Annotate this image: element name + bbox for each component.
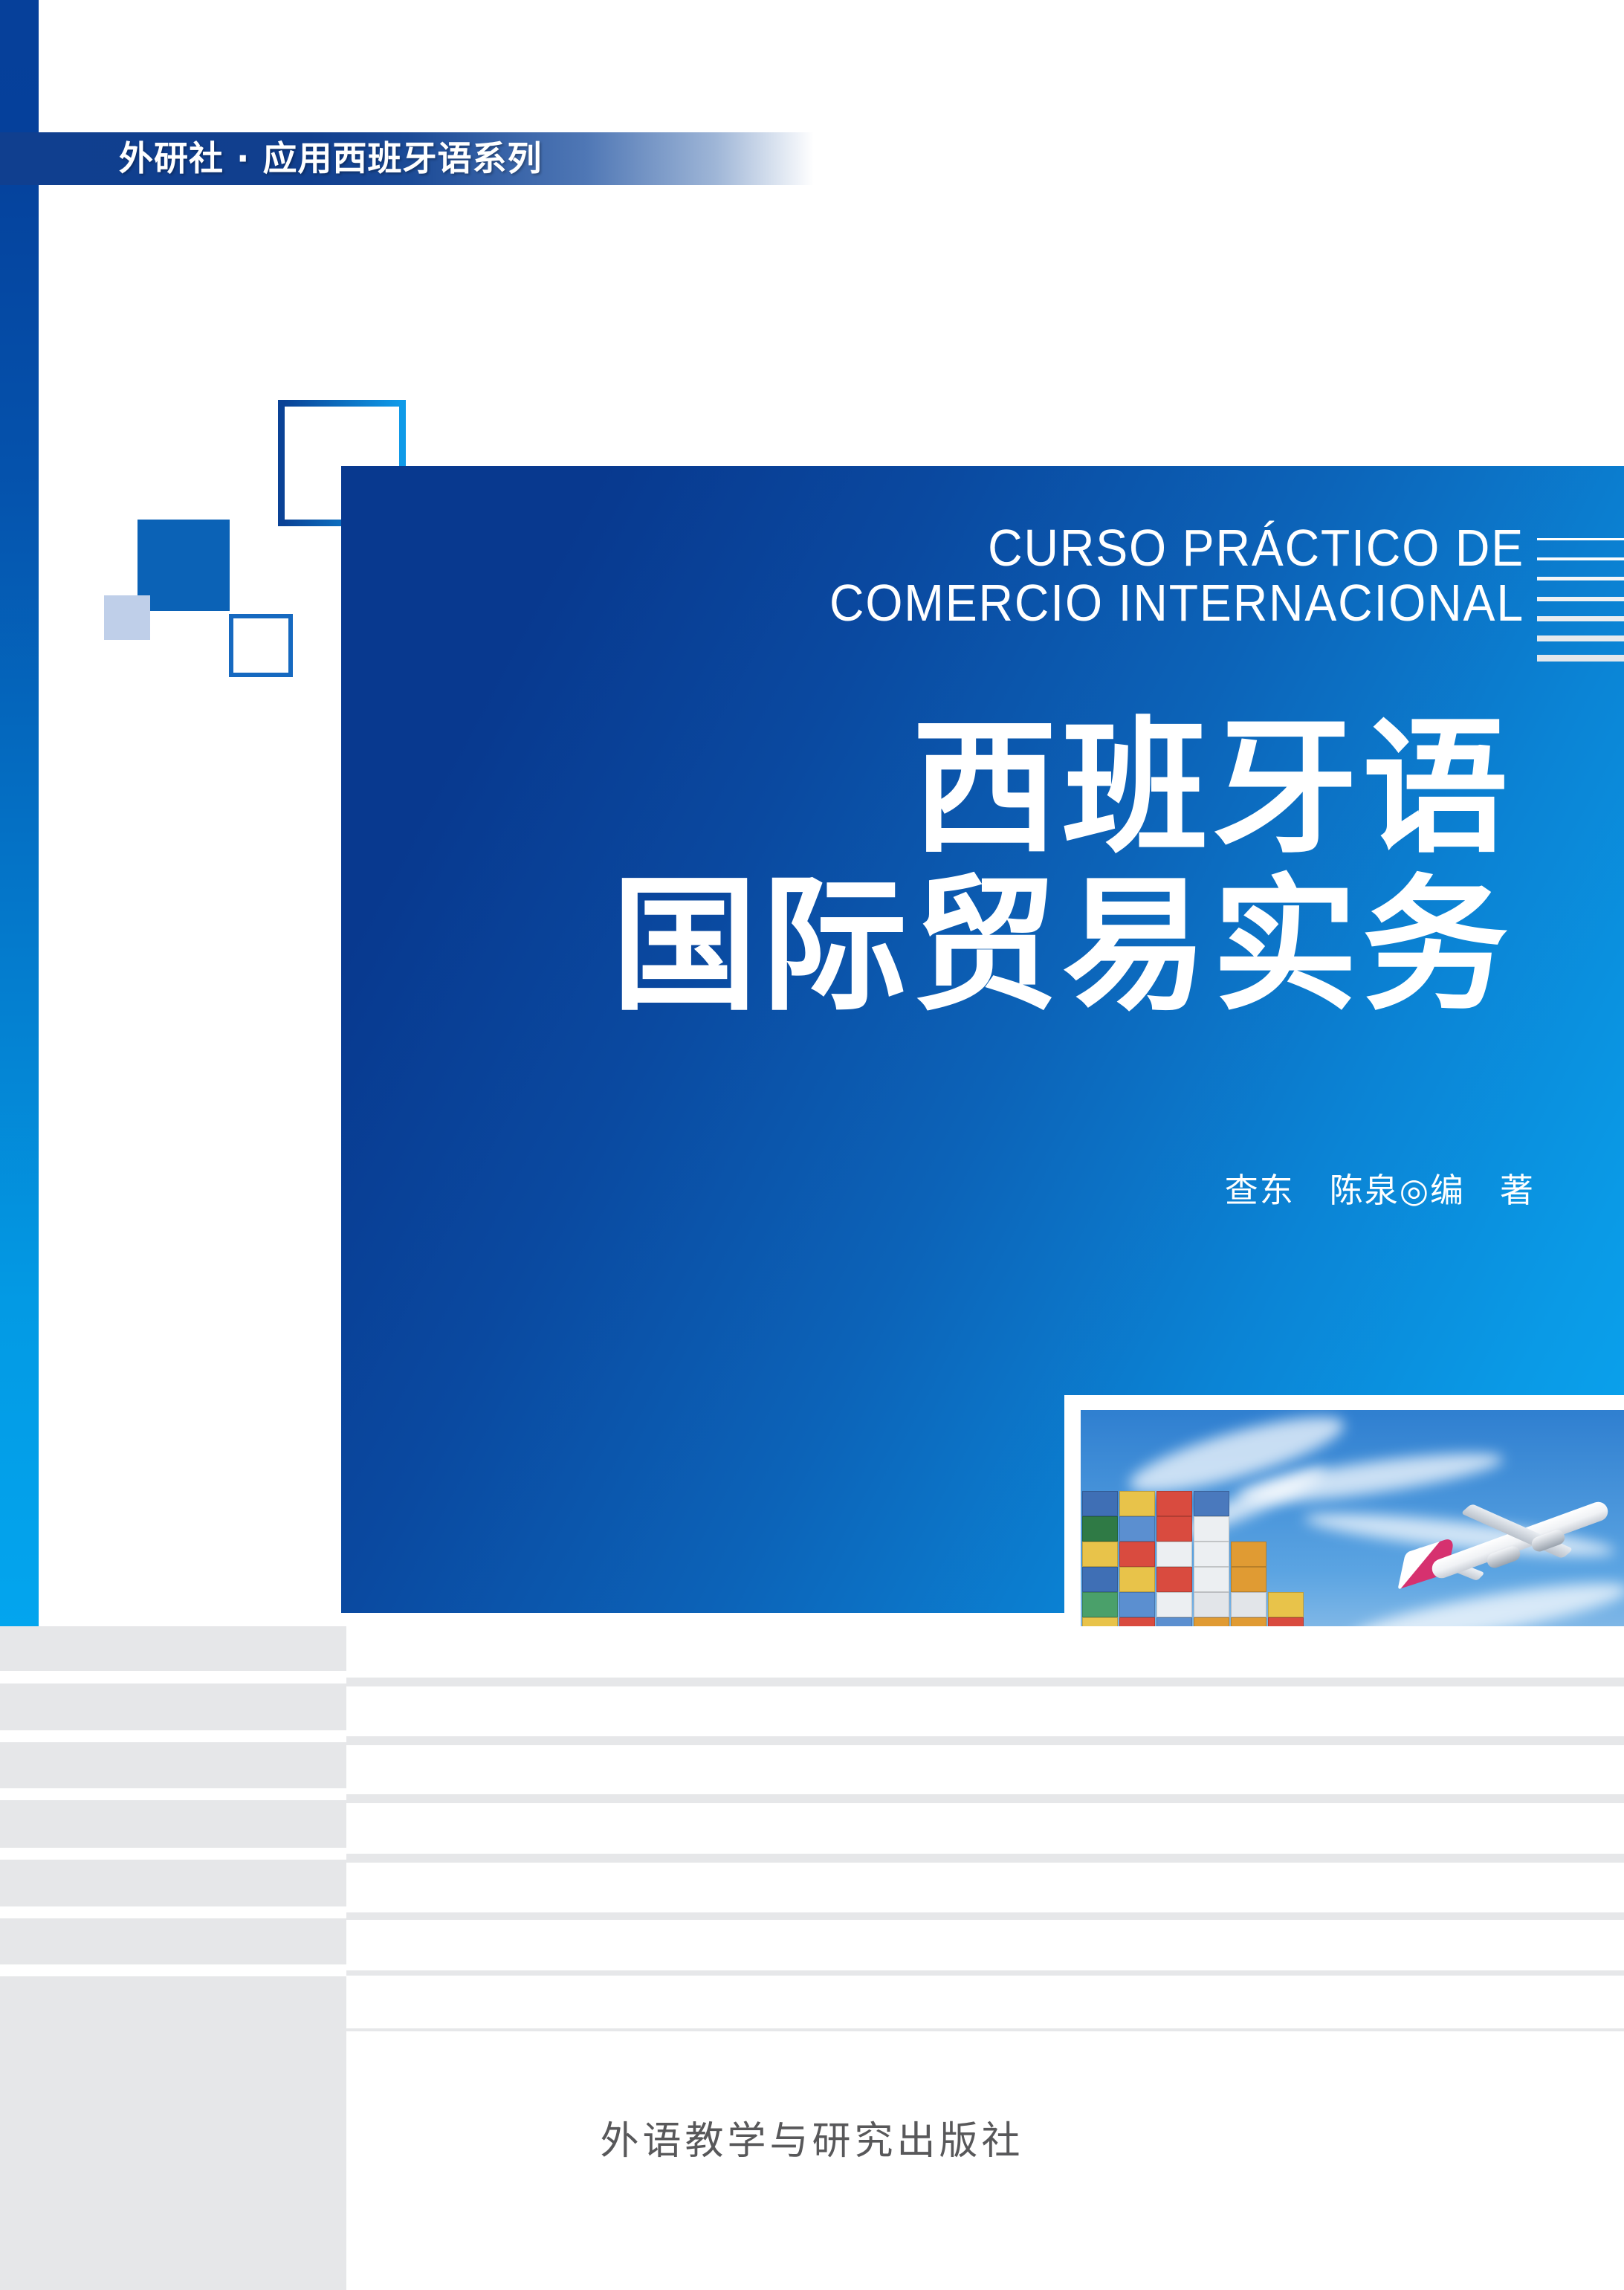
stripe-right [346,1970,1624,1976]
spanish-title: CURSO PRÁCTICO DE COMERCIO INTERNACIONAL [436,520,1524,630]
decor-rule-6 [1537,635,1624,641]
decor-rule-5 [1537,616,1624,621]
decor-square-solid-medium [138,520,230,611]
chinese-title-line-2: 国际贸易实务 [341,867,1513,1025]
stripe-left [0,1800,346,1848]
stripe-right [346,1912,1624,1920]
series-banner-label: 外研社 · 应用西班牙语系列 [119,135,543,181]
stripe-right [346,1678,1624,1686]
left-accent-band [0,0,39,1628]
bottom-stripe-band [0,1626,1624,2290]
decor-square-outline-small [229,614,293,677]
decor-rule-3 [1537,577,1624,580]
stripe-left [0,1918,346,1964]
spanish-title-line-1: CURSO PRÁCTICO DE [436,520,1524,575]
chinese-title-line-1: 西班牙语 [341,710,1513,867]
stripe-right [346,1794,1624,1803]
stripe-left [0,1683,346,1730]
decor-rule-2 [1537,557,1624,560]
publisher-name: 外语教学与研究出版社 [0,2109,1624,2165]
stripe-right [346,1854,1624,1863]
stripe-left [0,1860,346,1906]
decor-square-pale-small [104,595,150,640]
stripe-right [346,2028,1624,2031]
decor-rule-4 [1537,597,1624,601]
decor-rule-7 [1537,655,1624,662]
chinese-title: 西班牙语 国际贸易实务 [341,710,1513,1025]
stripe-right [346,1736,1624,1745]
airplane-icon [1393,1478,1616,1620]
stripe-left [0,1742,346,1788]
stripe-left [0,1626,346,1671]
decor-rule-lines [1537,538,1624,662]
book-cover: 外研社 · 应用西班牙语系列 CURSO PRÁCTICO DE COMERCI… [0,0,1624,2290]
decor-rule-1 [1537,538,1624,540]
author-line: 查东 陈泉◎编 著 [341,1163,1535,1212]
spanish-title-line-2: COMERCIO INTERNACIONAL [436,575,1524,630]
